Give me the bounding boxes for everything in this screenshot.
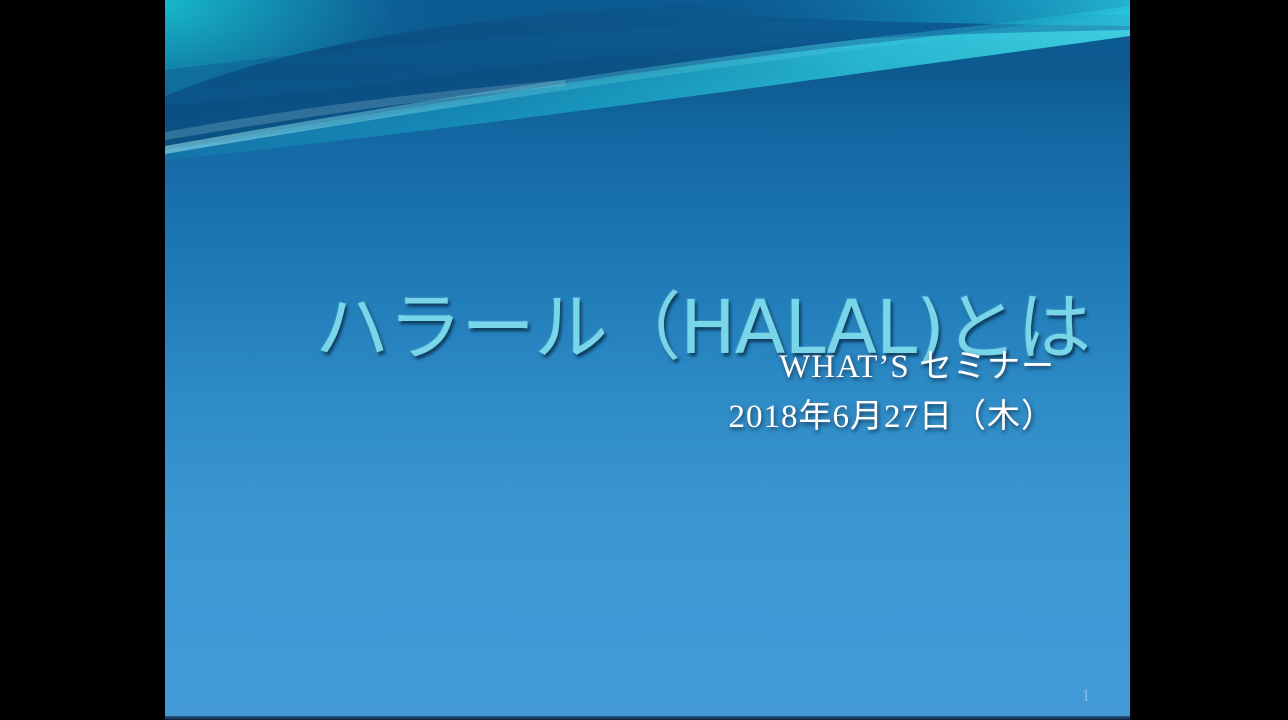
subtitle-line-event: WHAT’S セミナー bbox=[165, 342, 1055, 392]
letterbox-left bbox=[0, 0, 165, 720]
letterbox-right bbox=[1130, 0, 1288, 720]
banner-shadow bbox=[165, 0, 1130, 130]
slide-subtitle-block: WHAT’S セミナー 2018年6月27日（木） bbox=[165, 342, 1055, 442]
wave-banner-graphic bbox=[165, 0, 1130, 160]
subtitle-line-date: 2018年6月27日（木） bbox=[165, 392, 1055, 442]
slide-number: 1 bbox=[1071, 686, 1101, 706]
slide-bottom-edge bbox=[165, 716, 1130, 720]
presentation-slide: ハラール（HALAL)とは WHAT’S セミナー 2018年6月27日（木） … bbox=[165, 0, 1130, 720]
slideshow-viewport: ハラール（HALAL)とは WHAT’S セミナー 2018年6月27日（木） … bbox=[0, 0, 1288, 720]
corner-teal-tint bbox=[165, 0, 425, 160]
